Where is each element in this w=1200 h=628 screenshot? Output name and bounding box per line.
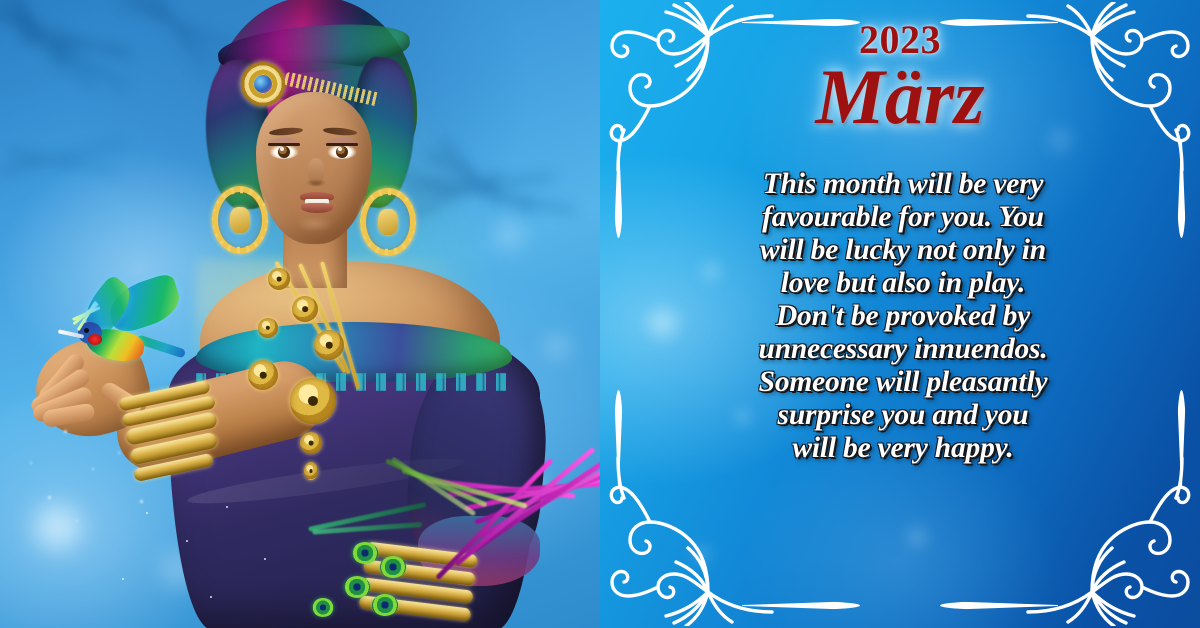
iris [336, 146, 348, 158]
fortune-teller-figure [0, 0, 600, 628]
horoscope-banner: 2023 März This month will be very favour… [0, 0, 1200, 628]
eyebrow [323, 127, 357, 137]
body-line: surprise you and you [658, 399, 1148, 432]
corner-ornament-bottom-right [1026, 456, 1196, 626]
jewel-brooch-icon [241, 62, 285, 106]
iris [278, 146, 290, 158]
bird-eye [84, 328, 89, 333]
feather-fan [26, 448, 396, 628]
lips [300, 192, 334, 212]
body-line: will be very happy. [658, 432, 1148, 465]
body-line: unnecessary innuendos. [658, 333, 1148, 366]
earring-right [360, 188, 416, 256]
eyelash [326, 143, 358, 146]
body-line: Don't be provoked by [658, 300, 1148, 333]
eyebrow [269, 127, 303, 137]
eye-left [269, 144, 299, 159]
body-line: will be lucky not only in [658, 234, 1148, 267]
chin-highlight [296, 216, 334, 232]
earring-left [212, 186, 268, 254]
nose [308, 158, 324, 186]
eyelash [268, 143, 300, 146]
body-line: This month will be very [658, 168, 1148, 201]
body-line: favourable for you. You [658, 201, 1148, 234]
hummingbird-icon [56, 286, 186, 396]
body-line: love but also in play. [658, 267, 1148, 300]
horoscope-body-text: This month will be very favourable for y… [658, 168, 1148, 465]
eye-right [327, 144, 357, 159]
body-line: Someone will pleasantly [658, 366, 1148, 399]
month-title: März [600, 58, 1200, 136]
artwork-photo [0, 0, 600, 628]
corner-ornament-bottom-left [604, 456, 774, 626]
horoscope-text-panel: 2023 März This month will be very favour… [600, 0, 1200, 628]
bird-throat [88, 334, 102, 345]
